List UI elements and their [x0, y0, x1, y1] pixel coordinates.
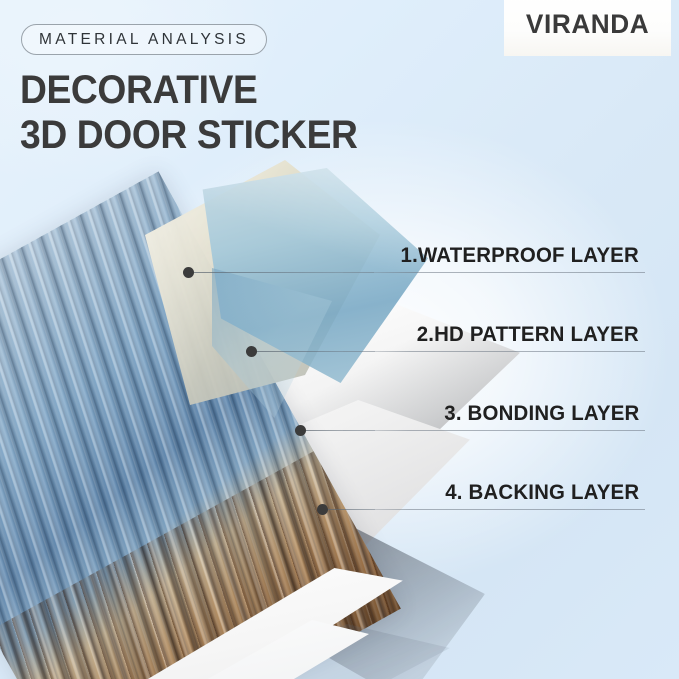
- layer-label-2-text: 2.HD PATTERN LAYER: [417, 322, 639, 347]
- callout-dot-1: [183, 267, 194, 278]
- layer-rule-3: [343, 430, 645, 431]
- layer-label-3[interactable]: 3. BONDING LAYER: [434, 401, 640, 426]
- brand-logo-text: VIRANDA: [526, 9, 649, 40]
- page-title: DECORATIVE 3D DOOR STICKER: [20, 68, 540, 158]
- material-analysis-badge: MATERIAL ANALYSIS: [21, 24, 267, 55]
- layer-rule-1: [343, 272, 645, 273]
- callout-dot-4: [317, 504, 328, 515]
- poster-canvas: 1.WATERPROOF LAYER 2.HD PATTERN LAYER 3.…: [0, 0, 679, 679]
- sticker-illustration: [0, 150, 500, 679]
- layer-label-4[interactable]: 4. BACKING LAYER: [435, 480, 639, 505]
- layer-rule-2: [343, 351, 645, 352]
- page-title-line-2: 3D DOOR STICKER: [20, 113, 504, 158]
- layer-label-2[interactable]: 2.HD PATTERN LAYER: [405, 322, 639, 347]
- material-analysis-badge-label: MATERIAL ANALYSIS: [39, 31, 249, 49]
- layer-label-1[interactable]: 1.WATERPROOF LAYER: [388, 243, 639, 268]
- callout-dot-3: [295, 425, 306, 436]
- layer-rule-4: [343, 509, 645, 510]
- page-title-line-1: DECORATIVE: [20, 68, 504, 113]
- brand-logo-panel: VIRANDA: [504, 0, 671, 56]
- callout-dot-2: [246, 346, 257, 357]
- layer-label-4-text: 4. BACKING LAYER: [445, 480, 639, 505]
- layer-label-1-text: 1.WATERPROOF LAYER: [401, 243, 639, 268]
- layer-label-3-text: 3. BONDING LAYER: [444, 401, 639, 426]
